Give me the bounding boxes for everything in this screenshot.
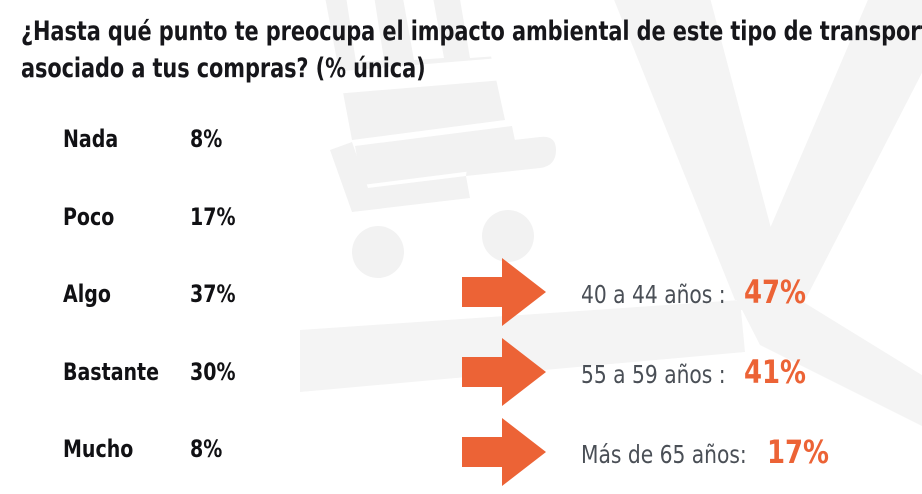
page-title-line-1: ¿Hasta qué punto te preocupa el impacto … xyxy=(21,13,761,50)
callout-text-40-44: 40 a 44 años :47% xyxy=(581,276,813,308)
callout-label: 55 a 59 años : xyxy=(581,362,726,387)
row-value-algo: 37% xyxy=(190,280,235,308)
row-label-bastante: Bastante xyxy=(63,358,159,386)
table-row: Algo 37% xyxy=(0,268,330,346)
table-row: Bastante 30% xyxy=(0,346,330,424)
row-label-algo: Algo xyxy=(63,280,111,308)
callout-text-55-59: 55 a 59 años :41% xyxy=(581,356,813,388)
table-row: Poco 17% xyxy=(0,191,330,269)
callout-label: Más de 65 años: xyxy=(581,442,747,467)
callout-value: 17% xyxy=(767,436,829,468)
row-value-mucho: 8% xyxy=(190,435,222,463)
callout-text-mas-65: Más de 65 años:17% xyxy=(581,436,836,468)
callout-label: 40 a 44 años : xyxy=(581,282,726,307)
callout-group: 40 a 44 años :47% 55 a 59 años :41% Más … xyxy=(462,252,836,492)
row-label-poco: Poco xyxy=(63,203,114,231)
row-value-poco: 17% xyxy=(190,203,235,231)
slide-canvas: ¿Hasta qué punto te preocupa el impacto … xyxy=(0,0,922,494)
callout-value: 47% xyxy=(744,276,806,308)
row-value-bastante: 30% xyxy=(190,358,235,386)
callout-55-59: 55 a 59 años :41% xyxy=(462,332,836,412)
callout-40-44: 40 a 44 años :47% xyxy=(462,252,836,332)
row-label-mucho: Mucho xyxy=(63,435,133,463)
arrow-right-icon xyxy=(462,418,546,486)
arrow-right-icon xyxy=(462,338,546,406)
page-title: ¿Hasta qué punto te preocupa el impacto … xyxy=(21,13,761,87)
row-label-nada: Nada xyxy=(63,125,118,153)
arrow-right-icon xyxy=(462,258,546,326)
callout-value: 41% xyxy=(744,356,806,388)
page-title-line-2: asociado a tus compras? (% única) xyxy=(21,50,761,87)
row-value-nada: 8% xyxy=(190,125,222,153)
distribution-table: Nada 8% Poco 17% Algo 37% Bastante 30% M… xyxy=(0,113,330,494)
callout-mas-65: Más de 65 años:17% xyxy=(462,412,836,492)
table-row: Mucho 8% xyxy=(0,423,330,494)
table-row: Nada 8% xyxy=(0,113,330,191)
